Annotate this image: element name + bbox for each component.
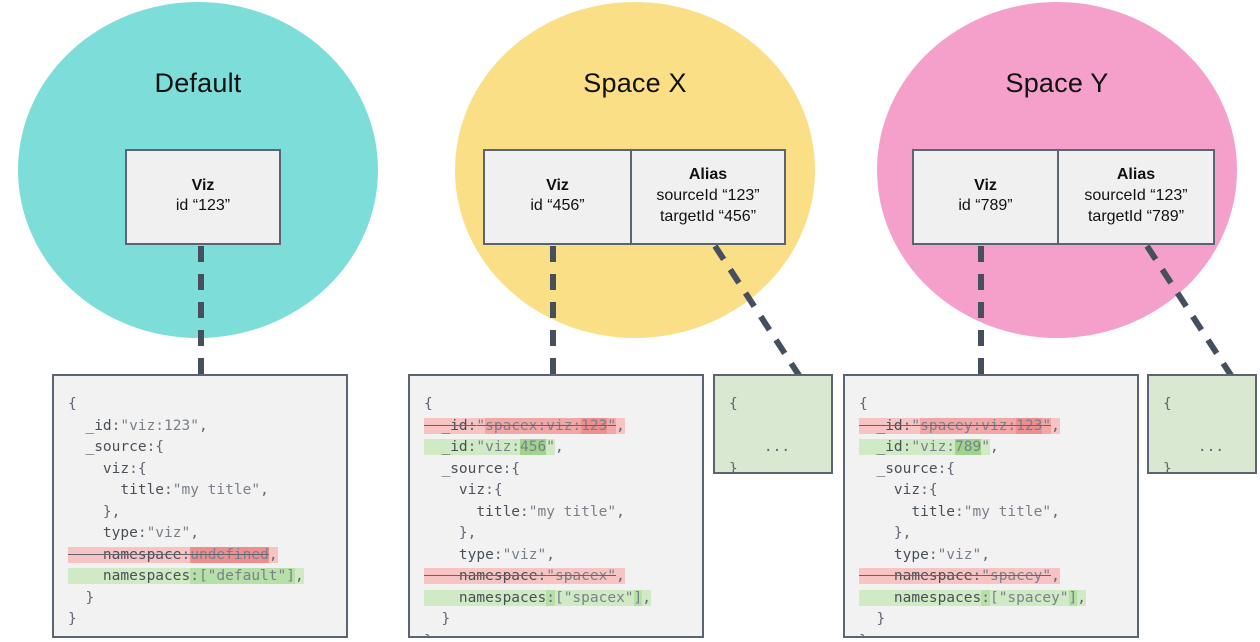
code-line: { bbox=[859, 394, 1125, 416]
code-token: :{ bbox=[485, 482, 502, 498]
code-token: "viz: bbox=[476, 439, 520, 455]
code-token: : bbox=[138, 525, 147, 541]
code-token: _id bbox=[859, 418, 903, 434]
code-token: " bbox=[1042, 418, 1051, 434]
code-token: :{ bbox=[129, 461, 146, 477]
code-token: , bbox=[260, 482, 269, 498]
space-label-spacex: Space X bbox=[455, 68, 815, 99]
code-token: : bbox=[929, 547, 938, 563]
entity-box-viz-spacey[interactable]: Vizid “789” bbox=[914, 151, 1057, 243]
code-token: : bbox=[955, 504, 964, 520]
code-token: namespaces bbox=[68, 568, 190, 584]
code-line: } bbox=[68, 609, 334, 631]
entity-title: Alias bbox=[1117, 164, 1155, 186]
code-token: viz bbox=[68, 461, 129, 477]
code-line: _source:{ bbox=[859, 459, 1125, 481]
code-token: : bbox=[973, 568, 982, 584]
code-line: _id:"spacex:viz:123", bbox=[424, 416, 690, 438]
code-token: , bbox=[269, 547, 278, 563]
code-token: , bbox=[546, 547, 555, 563]
code-token: "my title" bbox=[964, 504, 1051, 520]
code-token: undefined bbox=[190, 547, 269, 563]
code-token: } bbox=[859, 611, 885, 627]
code-line bbox=[1163, 416, 1243, 438]
code-token: _id bbox=[424, 439, 468, 455]
code-token: namespace bbox=[424, 568, 538, 584]
code-line bbox=[729, 416, 819, 438]
code-line: _source:{ bbox=[68, 437, 334, 459]
code-token: , bbox=[990, 439, 999, 455]
default-viz-to-doc bbox=[198, 246, 204, 374]
code-line: { bbox=[1163, 394, 1243, 416]
code-token: namespace bbox=[68, 547, 182, 563]
code-token: , bbox=[616, 418, 625, 434]
code-token: " bbox=[476, 418, 485, 434]
code-token: , bbox=[616, 568, 625, 584]
code-token: "spacey" bbox=[999, 590, 1069, 606]
entity-detail-line: id “789” bbox=[958, 196, 1012, 217]
code-token: " bbox=[911, 418, 920, 434]
code-token: : bbox=[538, 568, 547, 584]
code-token: type bbox=[68, 525, 138, 541]
code-line: _id:"spacey:viz:123", bbox=[859, 416, 1125, 438]
code-token: _id bbox=[859, 439, 903, 455]
code-token: , bbox=[1077, 590, 1086, 606]
code-line: } bbox=[1163, 459, 1243, 475]
code-line: _id:"viz:456", bbox=[424, 437, 690, 459]
code-token: :{ bbox=[938, 461, 955, 477]
code-token: type bbox=[859, 547, 929, 563]
code-block-spacex-doc: { _id:"spacex:viz:123", _id:"viz:456", _… bbox=[408, 374, 704, 638]
code-token: "spacey" bbox=[981, 568, 1051, 584]
code-token: { bbox=[1163, 396, 1172, 412]
code-token: namespace bbox=[859, 568, 973, 584]
code-token: " bbox=[546, 439, 555, 455]
code-line: { bbox=[729, 394, 819, 416]
code-token: , bbox=[616, 504, 625, 520]
code-token: viz bbox=[859, 482, 920, 498]
entity-detail-line: sourceId “123” bbox=[1084, 186, 1187, 207]
entity-box-viz-default[interactable]: Vizid “123” bbox=[127, 151, 279, 243]
code-line: _id:"viz:789", bbox=[859, 437, 1125, 459]
code-line: namespace:"spacex", bbox=[424, 566, 690, 588]
entity-group-spacey: Vizid “789”AliassourceId “123”targetId “… bbox=[912, 149, 1215, 245]
code-token: _source bbox=[859, 461, 938, 477]
code-token: } bbox=[729, 461, 738, 475]
entity-detail-line: targetId “456” bbox=[660, 207, 756, 228]
code-token: ... bbox=[729, 439, 790, 455]
code-token: type bbox=[424, 547, 494, 563]
code-token: :{ bbox=[147, 439, 164, 455]
code-token: "viz" bbox=[938, 547, 982, 563]
code-line: }, bbox=[424, 523, 690, 545]
code-line: }, bbox=[859, 523, 1125, 545]
entity-detail-line: id “123” bbox=[176, 196, 230, 217]
code-token: : bbox=[182, 547, 191, 563]
code-token: ... bbox=[1163, 439, 1224, 455]
entity-detail-line: id “456” bbox=[530, 196, 584, 217]
entity-title: Viz bbox=[974, 175, 997, 197]
code-token: } bbox=[424, 633, 433, 639]
code-token: , bbox=[199, 418, 208, 434]
code-token: } bbox=[68, 590, 94, 606]
code-token: , bbox=[190, 525, 199, 541]
code-token: " bbox=[981, 439, 990, 455]
code-token: _id bbox=[424, 418, 468, 434]
code-line: } bbox=[859, 609, 1125, 631]
code-token: viz bbox=[424, 482, 485, 498]
code-token: , bbox=[1051, 418, 1060, 434]
code-block-spacey-alias-doc: { ...} bbox=[1147, 374, 1257, 474]
code-token: ] bbox=[634, 590, 643, 606]
entity-title: Viz bbox=[192, 175, 215, 197]
code-token: , bbox=[981, 547, 990, 563]
code-token: namespaces bbox=[424, 590, 546, 606]
code-line: } bbox=[68, 588, 334, 610]
code-line: } bbox=[424, 609, 690, 631]
entity-group-spacex: Vizid “456”AliassourceId “123”targetId “… bbox=[483, 149, 786, 245]
code-token: : bbox=[520, 504, 529, 520]
code-token: : bbox=[164, 482, 173, 498]
code-token: { bbox=[859, 396, 868, 412]
code-token: 456 bbox=[520, 439, 546, 455]
entity-detail-line: targetId “789” bbox=[1088, 207, 1184, 228]
code-token: _source bbox=[68, 439, 147, 455]
code-token: }, bbox=[424, 525, 476, 541]
code-line: }, bbox=[68, 502, 334, 524]
code-line: ... bbox=[729, 437, 819, 459]
space-label-default: Default bbox=[18, 68, 378, 99]
entity-box-alias-spacex[interactable]: AliassourceId “123”targetId “456” bbox=[630, 151, 784, 243]
code-line: namespaces:["default"], bbox=[68, 566, 334, 588]
code-token: : bbox=[546, 590, 555, 606]
code-line: type:"viz", bbox=[68, 523, 334, 545]
code-token: :{ bbox=[503, 461, 520, 477]
code-token: { bbox=[729, 396, 738, 412]
entity-title: Viz bbox=[546, 175, 569, 197]
code-line: namespace:undefined, bbox=[68, 545, 334, 567]
code-token: "my title" bbox=[529, 504, 616, 520]
code-token: _id bbox=[68, 418, 112, 434]
entity-detail-line: sourceId “123” bbox=[656, 186, 759, 207]
code-token: 123 bbox=[1016, 418, 1042, 434]
code-token: } bbox=[68, 611, 77, 627]
code-token: } bbox=[859, 633, 868, 639]
code-token: "viz" bbox=[503, 547, 547, 563]
code-line: viz:{ bbox=[859, 480, 1125, 502]
code-line: namespace:"spacey", bbox=[859, 566, 1125, 588]
code-token: ["default"] bbox=[199, 568, 295, 584]
code-token: "viz: bbox=[911, 439, 955, 455]
code-token: spacex:viz: bbox=[485, 418, 581, 434]
space-label-spacey: Space Y bbox=[877, 68, 1237, 99]
code-line: } bbox=[729, 459, 819, 475]
code-line: } bbox=[859, 631, 1125, 639]
code-line: { bbox=[424, 394, 690, 416]
code-token: 123 bbox=[581, 418, 607, 434]
code-token: , bbox=[642, 590, 651, 606]
code-token: "spacex" bbox=[564, 590, 634, 606]
code-block-spacex-alias-doc: { ...} bbox=[713, 374, 833, 474]
code-token: title bbox=[424, 504, 520, 520]
code-line: title:"my title", bbox=[424, 502, 690, 524]
code-token: : bbox=[981, 590, 990, 606]
code-token: : bbox=[190, 568, 199, 584]
code-token: } bbox=[424, 611, 450, 627]
code-token: , bbox=[1051, 568, 1060, 584]
code-token: spacey:viz: bbox=[920, 418, 1016, 434]
code-token: { bbox=[68, 396, 77, 412]
code-token: 789 bbox=[955, 439, 981, 455]
code-line: { bbox=[68, 394, 334, 416]
code-line: _id:"viz:123", bbox=[68, 416, 334, 438]
code-line: namespaces:["spacey"], bbox=[859, 588, 1125, 610]
code-token: "viz:123" bbox=[120, 418, 199, 434]
code-line: title:"my title", bbox=[68, 480, 334, 502]
code-line: } bbox=[424, 631, 690, 639]
code-token: title bbox=[68, 482, 164, 498]
code-token: }, bbox=[859, 525, 911, 541]
code-token: [ bbox=[990, 590, 999, 606]
code-block-spacey-doc: { _id:"spacey:viz:123", _id:"viz:789", _… bbox=[843, 374, 1139, 638]
code-token: " bbox=[607, 418, 616, 434]
spacey-viz-to-doc bbox=[978, 246, 984, 374]
code-token: { bbox=[424, 396, 433, 412]
code-token: [ bbox=[555, 590, 564, 606]
code-token: : bbox=[494, 547, 503, 563]
spacex-viz-to-doc bbox=[550, 246, 556, 374]
code-line: viz:{ bbox=[68, 459, 334, 481]
code-token: _source bbox=[424, 461, 503, 477]
entity-title: Alias bbox=[689, 164, 727, 186]
code-token: ] bbox=[1069, 590, 1078, 606]
code-token: title bbox=[859, 504, 955, 520]
entity-group-default: Vizid “123” bbox=[125, 149, 281, 245]
code-token: , bbox=[295, 568, 304, 584]
code-token: "spacex" bbox=[546, 568, 616, 584]
code-line: title:"my title", bbox=[859, 502, 1125, 524]
code-token: , bbox=[555, 439, 564, 455]
entity-box-alias-spacey[interactable]: AliassourceId “123”targetId “789” bbox=[1057, 151, 1213, 243]
code-token: "viz" bbox=[147, 525, 191, 541]
code-line: type:"viz", bbox=[424, 545, 690, 567]
code-line: ... bbox=[1163, 437, 1243, 459]
code-token: , bbox=[1051, 504, 1060, 520]
code-token: "my title" bbox=[173, 482, 260, 498]
code-token: namespaces bbox=[859, 590, 981, 606]
code-block-default-doc: { _id:"viz:123", _source:{ viz:{ title:"… bbox=[52, 374, 348, 638]
code-token: }, bbox=[68, 504, 120, 520]
code-line: _source:{ bbox=[424, 459, 690, 481]
code-line: type:"viz", bbox=[859, 545, 1125, 567]
code-token: :{ bbox=[920, 482, 937, 498]
code-line: viz:{ bbox=[424, 480, 690, 502]
entity-box-viz-spacex[interactable]: Vizid “456” bbox=[485, 151, 630, 243]
diagram-canvas: DefaultSpace XSpace YVizid “123”Vizid “4… bbox=[0, 0, 1260, 642]
code-token: } bbox=[1163, 461, 1172, 475]
code-line: namespaces:["spacex"], bbox=[424, 588, 690, 610]
